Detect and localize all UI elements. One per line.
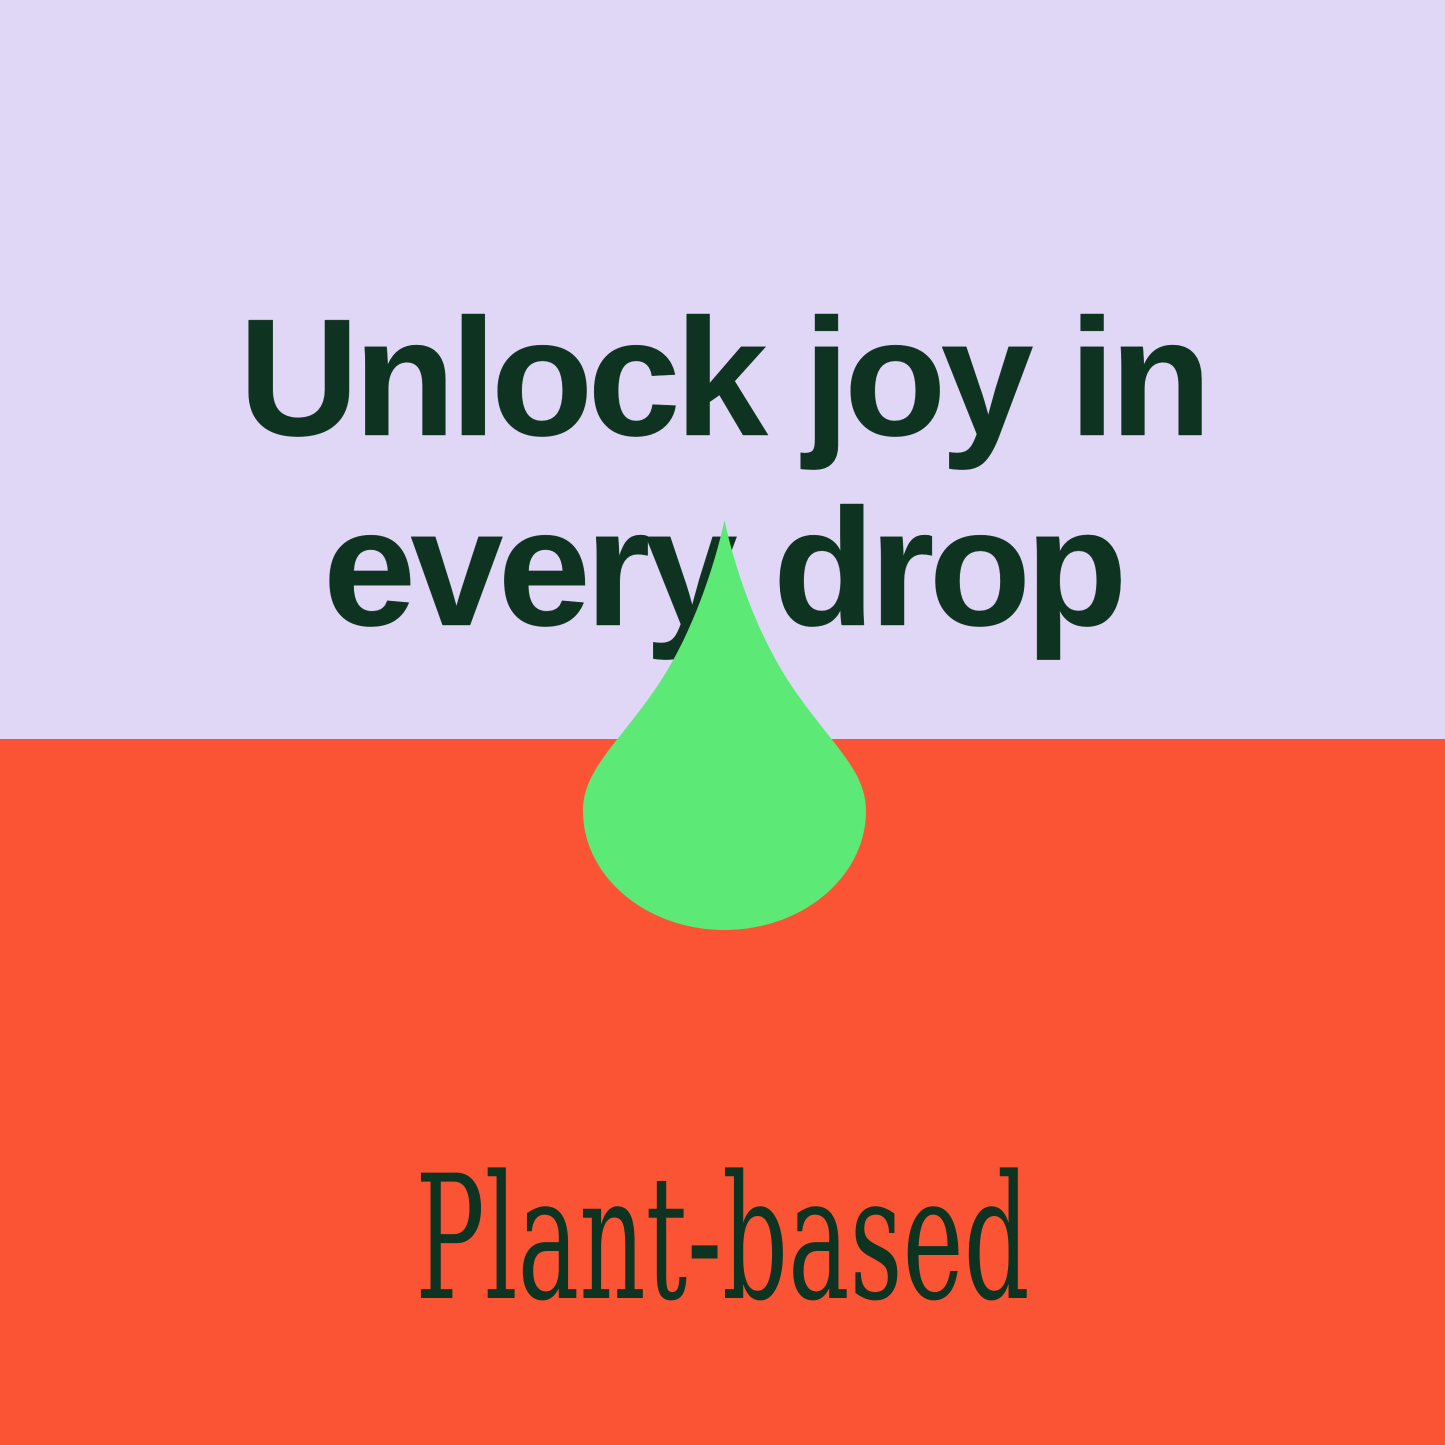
poster-canvas: Unlock joy in every drop Plant-based eve… — [0, 0, 1445, 1445]
headline-line-1: Unlock joy in — [239, 285, 1207, 471]
water-drop-icon — [583, 520, 866, 930]
subline-text: Plant-based everyday bliss — [289, 960, 1156, 1445]
water-drop-shape — [583, 520, 866, 930]
subline-line-1: Plant-based — [289, 1146, 1156, 1332]
